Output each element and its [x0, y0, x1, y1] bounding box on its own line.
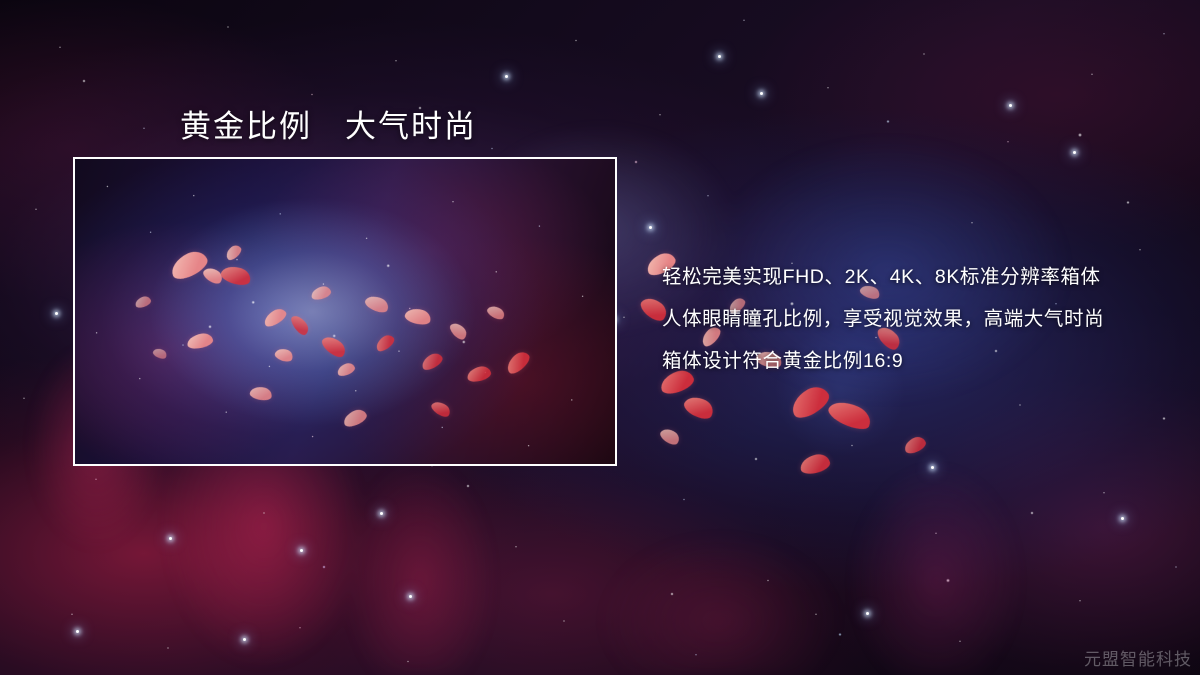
bright-star: [1073, 151, 1076, 154]
body-line-3: 箱体设计符合黄金比例16:9: [662, 340, 1162, 382]
bright-star: [55, 312, 58, 315]
bright-star: [243, 638, 246, 641]
bright-star: [169, 537, 172, 540]
bright-star: [718, 55, 721, 58]
bright-star: [505, 75, 508, 78]
page-title: 黄金比例 大气时尚: [180, 101, 477, 146]
bright-star: [1121, 517, 1124, 520]
bright-star: [760, 92, 763, 95]
bright-star: [409, 595, 412, 598]
watermark: 元盟智能科技: [1084, 645, 1192, 670]
bright-star: [380, 512, 383, 515]
presentation-slide: 黄金比例 大气时尚 轻松完美实现FHD、2K、4K、8K标准分辨率箱体 人体眼睛…: [0, 0, 1200, 675]
bright-star: [1009, 104, 1012, 107]
body-text-block: 轻松完美实现FHD、2K、4K、8K标准分辨率箱体 人体眼睛瞳孔比例，享受视觉效…: [662, 256, 1162, 382]
framed-image: [73, 157, 617, 466]
bright-star: [300, 549, 303, 552]
body-line-2: 人体眼睛瞳孔比例，享受视觉效果，高端大气时尚: [662, 298, 1162, 340]
body-line-1: 轻松完美实现FHD、2K、4K、8K标准分辨率箱体: [662, 256, 1162, 298]
bright-star: [649, 226, 652, 229]
bright-star: [866, 612, 869, 615]
bright-star: [931, 466, 934, 469]
bright-star: [76, 630, 79, 633]
